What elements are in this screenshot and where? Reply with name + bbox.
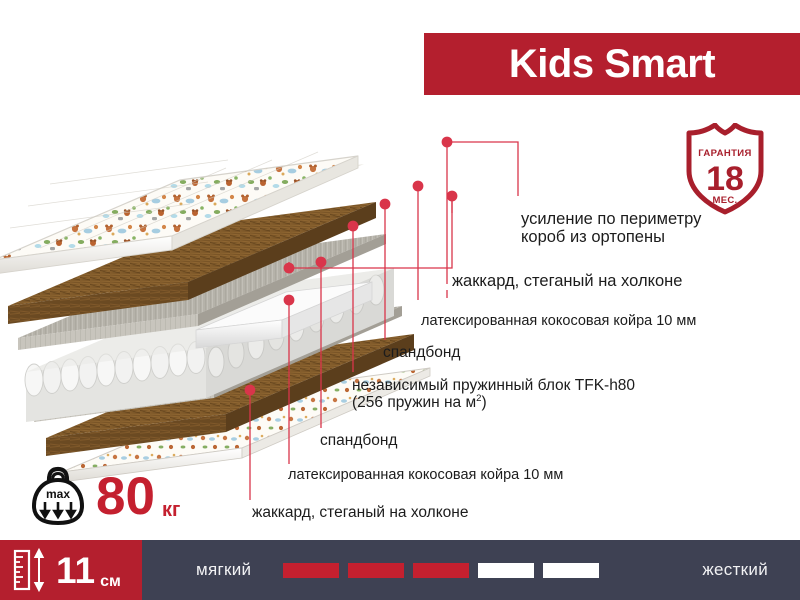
callout-line-1: независимый пружинный блок TFK-h80	[352, 377, 635, 394]
warranty-top-label: ГАРАНТИЯ	[698, 148, 752, 159]
callout-perimeter-reinforcement: усиление по периметру короб из ортопены	[521, 210, 701, 247]
callout-line-2: (256 пружин на м2)	[352, 394, 635, 412]
mattress-cutaway-illustration	[0, 72, 500, 492]
height-unit: см	[100, 573, 121, 600]
max-weight-block: max 80 кг	[30, 461, 180, 531]
springs-density-post: )	[481, 395, 486, 412]
firmness-hard-label: жесткий	[702, 560, 768, 580]
firmness-segment-5	[543, 563, 599, 578]
firmness-scale: мягкий жесткий	[142, 540, 800, 600]
callout-line-1: латексированная кокосовая койра 10 мм	[288, 467, 563, 483]
callout-spandbond-top: спандбонд	[383, 344, 460, 361]
firmness-segment-3	[413, 563, 469, 578]
callout-spring-block: независимый пружинный блок TFK-h80 (256 …	[352, 377, 635, 412]
callout-coir-bottom: латексированная кокосовая койра 10 мм	[288, 467, 563, 483]
max-weight-unit: кг	[162, 499, 180, 531]
height-chip: 11 см	[0, 540, 142, 600]
footer-bar: 11 см мягкий жесткий	[0, 540, 800, 600]
callout-line-2: короб из ортопены	[521, 228, 701, 246]
callout-line-1: спандбонд	[383, 344, 460, 361]
product-title-banner: Kids Smart	[424, 33, 800, 95]
callout-jacquard-bottom: жаккард, стеганый на холконе	[252, 504, 468, 521]
springs-density-pre: (256 пружин на м	[352, 395, 476, 412]
warranty-months-value: 18	[706, 160, 744, 198]
kettlebell-max-label: max	[46, 487, 70, 501]
firmness-segment-1	[283, 563, 339, 578]
height-value: 11	[56, 552, 95, 589]
warranty-shield-badge: ГАРАНТИЯ 18 МЕС.	[683, 123, 767, 215]
ruler-arrow-icon	[12, 547, 52, 593]
callout-line-1: спандбонд	[320, 432, 397, 449]
callout-line-1: жаккард, стеганый на холконе	[252, 504, 468, 521]
callout-line-1: латексированная кокосовая койра 10 мм	[421, 313, 696, 329]
firmness-segment-2	[348, 563, 404, 578]
callout-coir-top: латексированная кокосовая койра 10 мм	[421, 313, 696, 329]
page-title: Kids Smart	[509, 42, 715, 87]
max-weight-value: 80	[96, 470, 155, 523]
firmness-soft-label: мягкий	[196, 560, 251, 580]
callout-line-1: жаккард, стеганый на холконе	[452, 272, 682, 290]
callout-jacquard-top: жаккард, стеганый на холконе	[452, 272, 682, 290]
firmness-segment-group	[283, 563, 599, 578]
callout-line-1: усиление по периметру	[521, 210, 701, 228]
kettlebell-max-icon: max	[30, 465, 86, 527]
product-infographic: Kids Smart ГАРАНТИЯ 18 МЕС.	[0, 0, 800, 600]
callout-spandbond-bottom: спандбонд	[320, 432, 397, 449]
firmness-segment-4	[478, 563, 534, 578]
warranty-bottom-label: МЕС.	[713, 195, 738, 206]
